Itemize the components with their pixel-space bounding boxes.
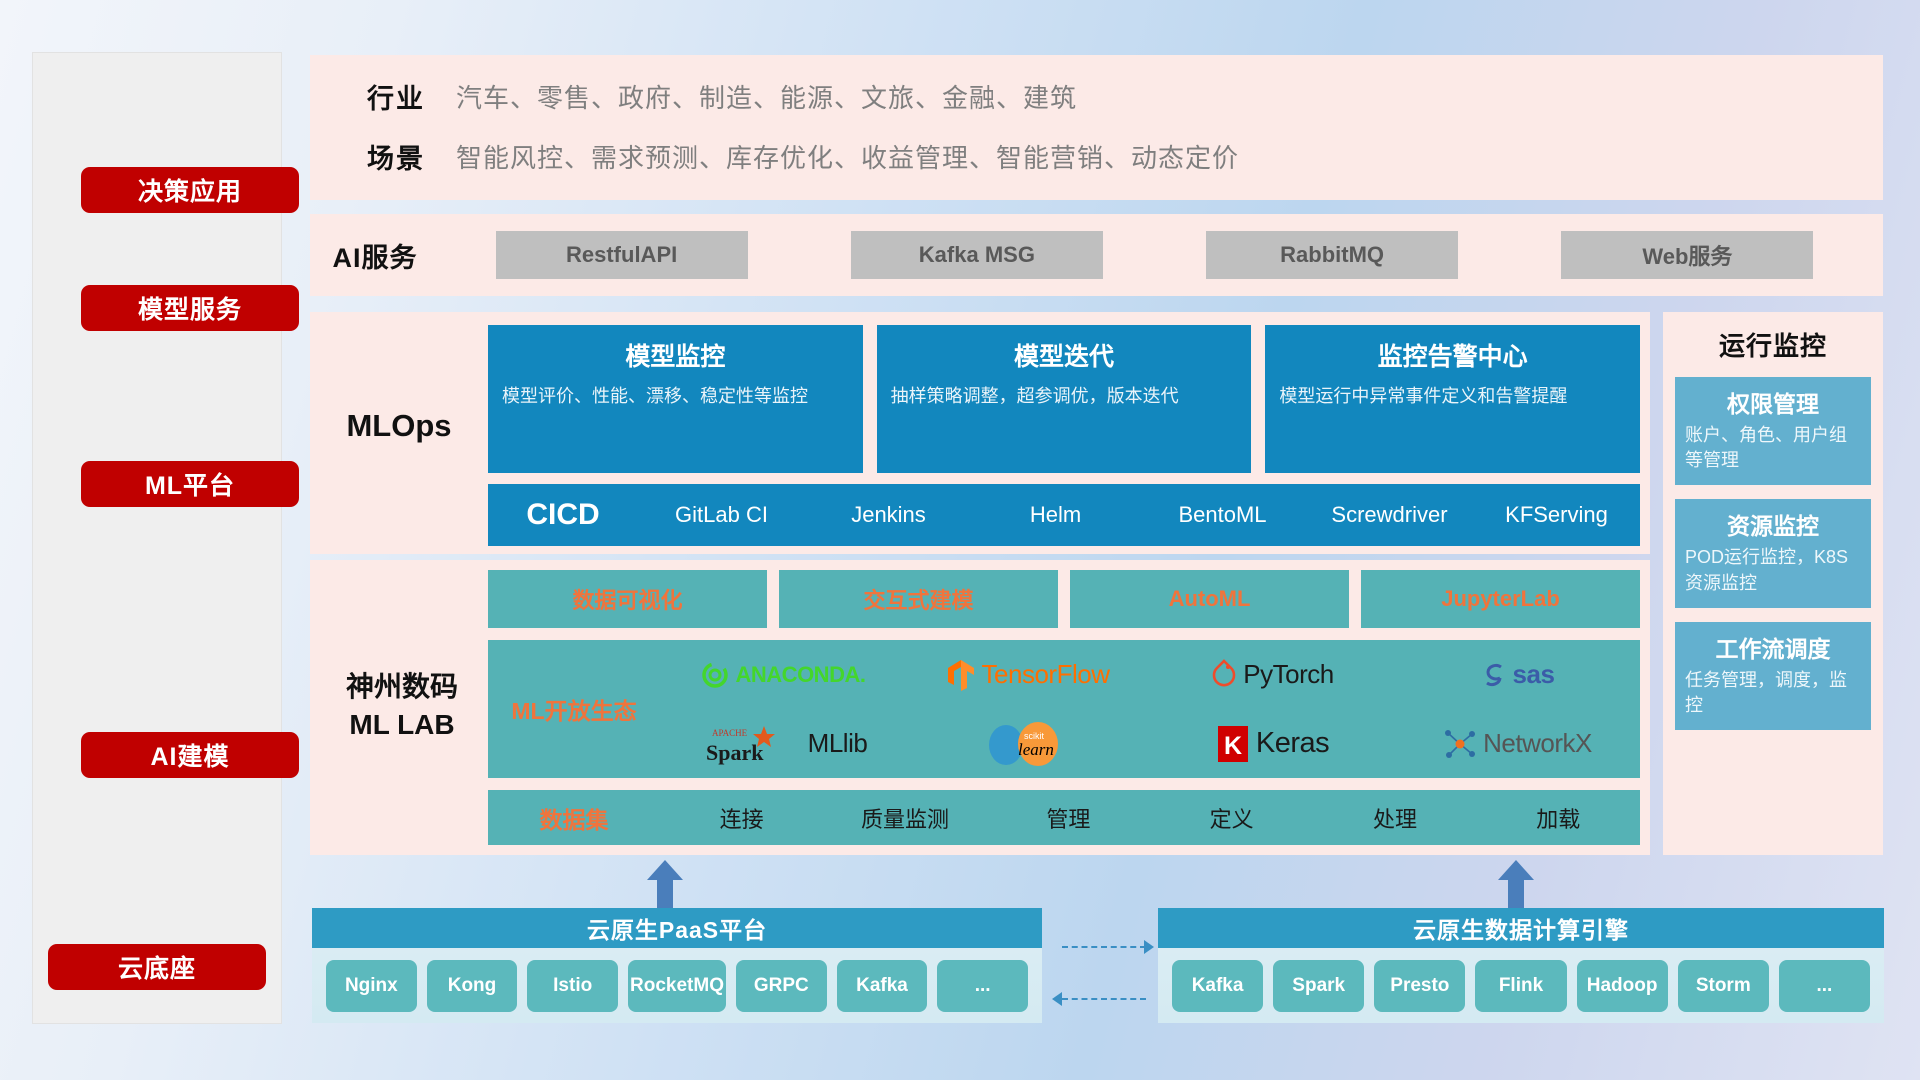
logo-text: Keras: [1256, 727, 1329, 760]
dataset-item-management[interactable]: 管理: [987, 802, 1150, 834]
card-title: 资源监控: [1685, 507, 1861, 541]
ml-lab-tabs: 数据可视化 交互式建模 AutoML JupyterLab: [488, 570, 1640, 628]
logo-text: TensorFlow: [982, 659, 1110, 690]
cicd-item-bentoml[interactable]: BentoML: [1139, 500, 1306, 530]
ai-service-chip-rabbitmq[interactable]: RabbitMQ: [1206, 231, 1458, 279]
arrow-up-paas: [645, 860, 685, 908]
card-desc: 模型运行中异常事件定义和告警提醒: [1279, 383, 1626, 409]
rail-item-cloud-base[interactable]: 云底座: [48, 944, 266, 990]
mlops-card-list: 模型监控 模型评价、性能、漂移、稳定性等监控 模型迭代 抽样策略调整，超参调优，…: [488, 325, 1640, 473]
industry-label: 行业: [336, 77, 456, 116]
keras-logo: K Keras: [1216, 724, 1329, 764]
ml-open-ecosystem-label: ML开放生态: [488, 692, 660, 726]
dataset-label: 数据集: [488, 801, 660, 835]
keras-mark-icon: K: [1216, 724, 1250, 764]
dataset-item-processing[interactable]: 处理: [1313, 802, 1476, 834]
anaconda-logo: ANACONDA.: [700, 660, 866, 690]
compute-item-presto[interactable]: Presto: [1374, 960, 1465, 1012]
compute-item-kafka[interactable]: Kafka: [1172, 960, 1263, 1012]
paas-item-istio[interactable]: Istio: [527, 960, 618, 1012]
compute-item-flink[interactable]: Flink: [1475, 960, 1566, 1012]
scikit-learn-logo: scikit learn: [982, 721, 1074, 767]
dataset-item-definition[interactable]: 定义: [1150, 802, 1313, 834]
dataset-row: 数据集 连接 质量监测 管理 定义 处理 加载: [488, 790, 1640, 845]
compute-item-hadoop[interactable]: Hadoop: [1577, 960, 1668, 1012]
cloud-paas-items: Nginx Kong Istio RocketMQ GRPC Kafka ...: [312, 948, 1042, 1024]
paas-item-nginx[interactable]: Nginx: [326, 960, 417, 1012]
ml-open-ecosystem: ML开放生态 ANACONDA. Ten: [488, 640, 1640, 778]
sas-mark-icon: [1481, 661, 1507, 689]
svg-text:APACHE: APACHE: [712, 728, 748, 738]
paas-item-rocketmq[interactable]: RocketMQ: [628, 960, 726, 1012]
scenario-label: 场景: [336, 137, 456, 176]
card-desc: 模型评价、性能、漂移、稳定性等监控: [502, 383, 849, 409]
card-desc: 任务管理，调度，监控: [1685, 668, 1861, 718]
mlops-card-model-monitoring[interactable]: 模型监控 模型评价、性能、漂移、稳定性等监控: [488, 325, 863, 473]
rail-item-decision-app[interactable]: 决策应用: [81, 167, 299, 213]
cloud-compute-title: 云原生数据计算引擎: [1158, 908, 1884, 948]
arrow-up-compute: [1496, 860, 1536, 908]
card-desc: 抽样策略调整，超参调优，版本迭代: [891, 383, 1238, 409]
paas-item-kong[interactable]: Kong: [427, 960, 518, 1012]
anaconda-mark-icon: [700, 660, 730, 690]
scikit-learn-mark-icon: scikit learn: [982, 721, 1074, 767]
scenario-row: 场景 智能风控、需求预测、库存优化、收益管理、智能营销、动态定价: [336, 137, 1239, 176]
cicd-label: CICD: [488, 498, 638, 532]
dashed-connector-left: [1062, 998, 1146, 1000]
runtime-monitor-panel: 运行监控 权限管理 账户、角色、用户组等管理 资源监控 POD运行监控，K8S资…: [1663, 312, 1883, 855]
compute-item-storm[interactable]: Storm: [1678, 960, 1769, 1012]
monitor-card-permission[interactable]: 权限管理 账户、角色、用户组等管理: [1675, 377, 1871, 485]
cicd-row: CICD GitLab CI Jenkins Helm BentoML Scre…: [488, 484, 1640, 546]
logo-text: NetworkX: [1483, 728, 1592, 759]
sas-logo: sas: [1481, 659, 1555, 690]
pytorch-mark-icon: [1211, 659, 1237, 691]
cicd-item-screwdriver[interactable]: Screwdriver: [1306, 500, 1473, 530]
industry-value: 汽车、零售、政府、制造、能源、文旅、金融、建筑: [456, 78, 1077, 115]
architecture-diagram: 决策应用 模型服务 ML平台 AI建模 云底座 行业 汽车、零售、政府、制造、能…: [0, 0, 1920, 1080]
logo-grid: ANACONDA. TensorFlow: [660, 640, 1640, 778]
svg-text:learn: learn: [1018, 740, 1054, 759]
tensorflow-mark-icon: [946, 658, 976, 692]
runtime-monitor-title: 运行监控: [1663, 312, 1883, 363]
ai-service-chip-web-service[interactable]: Web服务: [1561, 231, 1813, 279]
mlops-band: MLOps 模型监控 模型评价、性能、漂移、稳定性等监控 模型迭代 抽样策略调整…: [310, 312, 1650, 554]
svg-text:Spark: Spark: [706, 740, 764, 765]
paas-item-more[interactable]: ...: [937, 960, 1028, 1012]
ml-lab-label: 神州数码 ML LAB: [318, 668, 486, 744]
scenario-value: 智能风控、需求预测、库存优化、收益管理、智能营销、动态定价: [456, 138, 1239, 175]
compute-item-spark[interactable]: Spark: [1273, 960, 1364, 1012]
card-desc: 账户、角色、用户组等管理: [1685, 423, 1861, 473]
tab-jupyterlab[interactable]: JupyterLab: [1361, 570, 1640, 628]
cloud-compute-block: 云原生数据计算引擎 Kafka Spark Presto Flink Hadoo…: [1158, 908, 1884, 1023]
paas-item-kafka[interactable]: Kafka: [837, 960, 928, 1012]
card-title: 模型迭代: [891, 337, 1238, 373]
ml-lab-band: 神州数码 ML LAB 数据可视化 交互式建模 AutoML JupyterLa…: [310, 560, 1650, 855]
ml-lab-content: 数据可视化 交互式建模 AutoML JupyterLab ML开放生态 ANA…: [488, 570, 1640, 845]
rail-item-model-service[interactable]: 模型服务: [81, 285, 299, 331]
dataset-item-connect[interactable]: 连接: [660, 802, 823, 834]
rail-item-ml-platform[interactable]: ML平台: [81, 461, 299, 507]
cicd-item-jenkins[interactable]: Jenkins: [805, 500, 972, 530]
ai-service-chip-restfulapi[interactable]: RestfulAPI: [496, 231, 748, 279]
rail-item-ai-modeling[interactable]: AI建模: [81, 732, 299, 778]
dashed-connector-right: [1062, 946, 1146, 948]
paas-item-grpc[interactable]: GRPC: [736, 960, 827, 1012]
compute-item-more[interactable]: ...: [1779, 960, 1870, 1012]
networkx-mark-icon: [1443, 727, 1477, 761]
logo-text: ANACONDA.: [736, 662, 866, 688]
card-title: 监控告警中心: [1279, 337, 1626, 373]
monitor-card-workflow[interactable]: 工作流调度 任务管理，调度，监控: [1675, 622, 1871, 730]
networkx-logo: NetworkX: [1443, 727, 1592, 761]
ai-service-label: AI服务: [310, 236, 440, 275]
card-title: 模型监控: [502, 337, 849, 373]
ml-lab-label-line2: ML LAB: [318, 706, 486, 744]
rail-label: AI建模: [150, 737, 229, 773]
cicd-item-kfserving[interactable]: KFServing: [1473, 500, 1640, 530]
logo-text: MLlib: [808, 728, 868, 759]
industry-scenario-band: 行业 汽车、零售、政府、制造、能源、文旅、金融、建筑 场景 智能风控、需求预测、…: [310, 55, 1883, 200]
dashed-arrow-right-icon: [1144, 940, 1154, 954]
cloud-paas-block: 云原生PaaS平台 Nginx Kong Istio RocketMQ GRPC…: [312, 908, 1042, 1023]
ai-service-band: AI服务 RestfulAPI Kafka MSG RabbitMQ Web服务: [310, 214, 1883, 296]
dataset-item-loading[interactable]: 加载: [1477, 802, 1640, 834]
rail-label: 模型服务: [138, 290, 242, 326]
rail-label: 云底座: [118, 949, 196, 985]
mlops-card-model-iteration[interactable]: 模型迭代 抽样策略调整，超参调优，版本迭代: [877, 325, 1252, 473]
svg-text:K: K: [1224, 732, 1242, 760]
industry-row: 行业 汽车、零售、政府、制造、能源、文旅、金融、建筑: [336, 77, 1077, 116]
ml-lab-label-line1: 神州数码: [318, 668, 486, 706]
dataset-item-quality-monitoring[interactable]: 质量监测: [823, 802, 986, 834]
ai-service-chips: RestfulAPI Kafka MSG RabbitMQ Web服务: [440, 231, 1883, 279]
layer-rail: 决策应用 模型服务 ML平台 AI建模: [32, 52, 282, 1024]
rail-label: 决策应用: [138, 172, 242, 208]
pytorch-logo: PyTorch: [1211, 659, 1333, 691]
dashed-arrow-left-icon: [1052, 992, 1062, 1006]
cicd-item-gitlab-ci[interactable]: GitLab CI: [638, 500, 805, 530]
card-title: 权限管理: [1685, 385, 1861, 419]
cloud-compute-items: Kafka Spark Presto Flink Hadoop Storm ..…: [1158, 948, 1884, 1024]
card-desc: POD运行监控，K8S资源监控: [1685, 545, 1861, 595]
ai-service-chip-kafka-msg[interactable]: Kafka MSG: [851, 231, 1103, 279]
spark-mark-icon: APACHE Spark: [698, 722, 802, 766]
logo-text: sas: [1513, 659, 1555, 690]
tab-data-visualization[interactable]: 数据可视化: [488, 570, 767, 628]
monitor-card-resource[interactable]: 资源监控 POD运行监控，K8S资源监控: [1675, 499, 1871, 607]
card-title: 工作流调度: [1685, 630, 1861, 664]
mlops-card-alert-center[interactable]: 监控告警中心 模型运行中异常事件定义和告警提醒: [1265, 325, 1640, 473]
cloud-paas-title: 云原生PaaS平台: [312, 908, 1042, 948]
spark-mllib-logo: APACHE Spark MLlib: [698, 722, 868, 766]
tab-automl[interactable]: AutoML: [1070, 570, 1349, 628]
rail-label: ML平台: [145, 466, 235, 502]
mlops-label: MLOps: [324, 408, 474, 444]
tensorflow-logo: TensorFlow: [946, 658, 1110, 692]
cicd-item-helm[interactable]: Helm: [972, 500, 1139, 530]
tab-interactive-modeling[interactable]: 交互式建模: [779, 570, 1058, 628]
logo-text: PyTorch: [1243, 659, 1333, 690]
